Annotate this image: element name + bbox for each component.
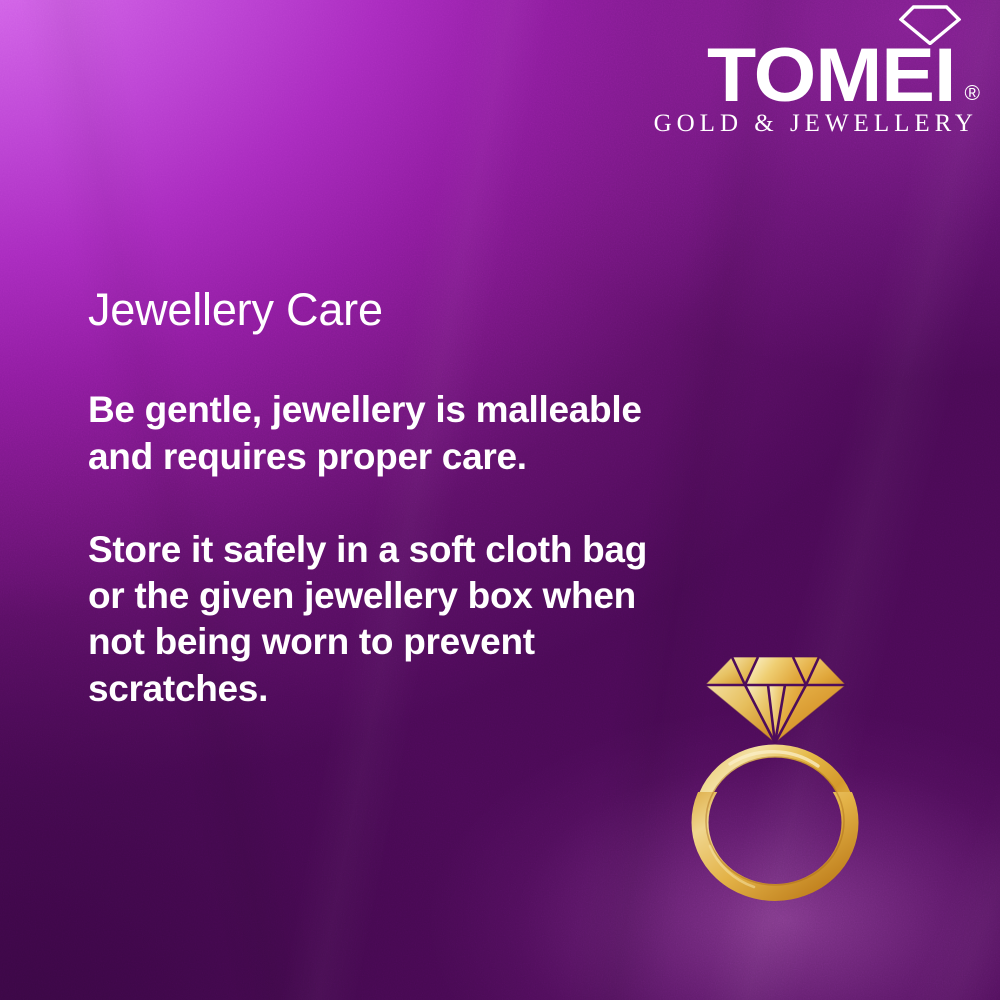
care-paragraph-2: Store it safely in a soft cloth bag or t…	[88, 527, 688, 712]
copy-block: Jewellery Care Be gentle, jewellery is m…	[88, 286, 688, 712]
logo-word-group: TOMEI ®	[650, 43, 980, 108]
diamond-gem-icon	[705, 657, 846, 743]
tomei-logo: TOMEI ® GOLD & JEWELLERY	[650, 4, 980, 138]
gold-ring-band	[700, 751, 850, 893]
diamond-ring-illustration	[690, 640, 890, 910]
logo-wordmark-text: TOMEI	[707, 43, 955, 108]
care-paragraph-1: Be gentle, jewellery is malleable and re…	[88, 387, 688, 480]
logo-wordmark-row: TOMEI ®	[650, 4, 980, 108]
registered-trademark-icon: ®	[965, 83, 980, 104]
poster-canvas: TOMEI ® GOLD & JEWELLERY Jewellery Care …	[0, 0, 1000, 1000]
page-title: Jewellery Care	[88, 286, 688, 333]
